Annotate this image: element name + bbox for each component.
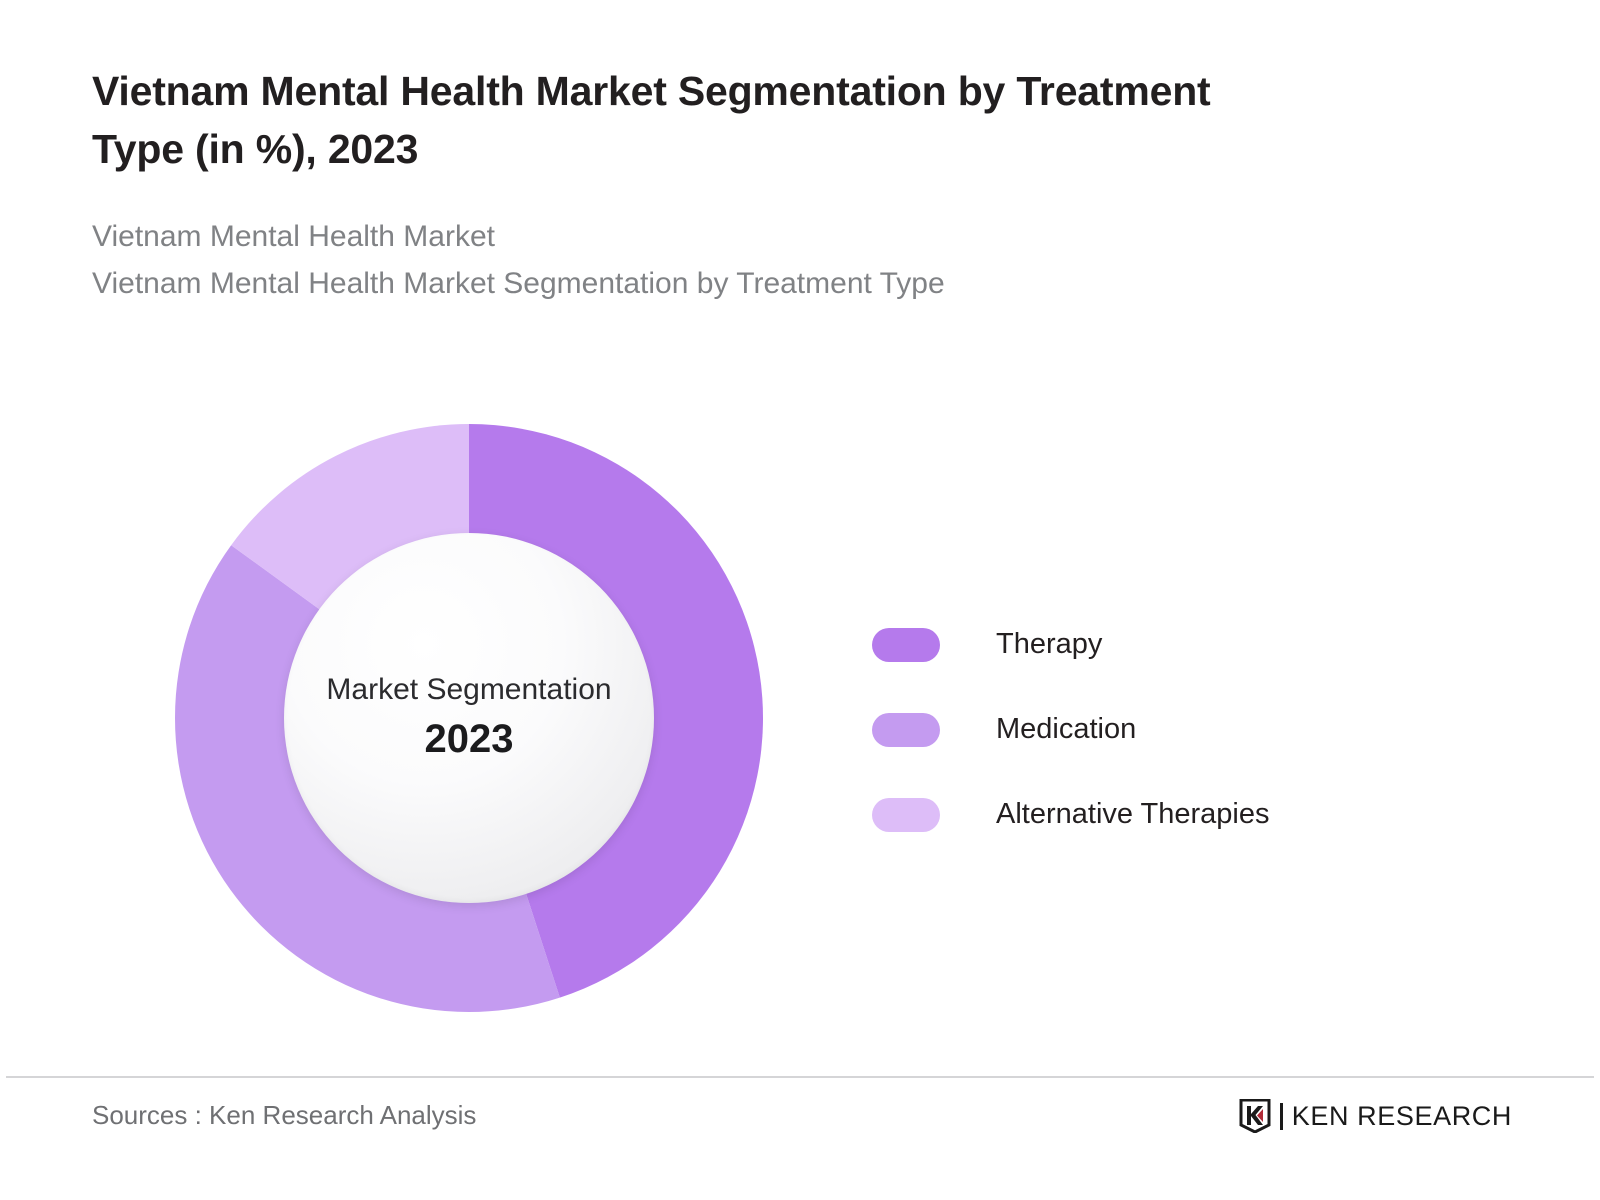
slide-canvas: Vietnam Mental Health Market Segmentatio… (0, 0, 1600, 1200)
chart-area: Market Segmentation 2023 Therapy Medicat… (0, 390, 1600, 1050)
chart-legend: Therapy Medication Alternative Therapies (872, 602, 1432, 857)
donut-center-value: 2023 (425, 714, 514, 764)
header: Vietnam Mental Health Market Segmentatio… (92, 62, 1352, 307)
donut-center-label: Market Segmentation (326, 672, 611, 708)
brand-divider-icon (1280, 1103, 1283, 1130)
legend-swatch-icon (872, 628, 940, 662)
legend-item-alternative-therapies[interactable]: Alternative Therapies (872, 772, 1432, 857)
legend-item-medication[interactable]: Medication (872, 687, 1432, 772)
brand-name: KEN RESEARCH (1292, 1101, 1512, 1132)
subtitle-line-1: Vietnam Mental Health Market (92, 214, 1352, 261)
page-title: Vietnam Mental Health Market Segmentatio… (92, 62, 1272, 178)
legend-label: Alternative Therapies (996, 798, 1270, 831)
legend-swatch-icon (872, 798, 940, 832)
subtitle-line-2: Vietnam Mental Health Market Segmentatio… (92, 261, 1352, 308)
footer: Sources : Ken Research Analysis KEN RESE… (92, 1094, 1512, 1154)
footer-divider (6, 1076, 1594, 1078)
subtitle-block: Vietnam Mental Health Market Vietnam Men… (92, 214, 1352, 307)
donut-chart: Market Segmentation 2023 (175, 424, 763, 1012)
brand-logo: KEN RESEARCH (1238, 1094, 1512, 1138)
legend-label: Therapy (996, 628, 1102, 661)
legend-swatch-icon (872, 713, 940, 747)
legend-label: Medication (996, 713, 1136, 746)
ken-k-monogram-icon (1238, 1099, 1272, 1133)
donut-center-hub: Market Segmentation 2023 (284, 533, 654, 903)
source-note: Sources : Ken Research Analysis (92, 1100, 476, 1131)
legend-item-therapy[interactable]: Therapy (872, 602, 1432, 687)
